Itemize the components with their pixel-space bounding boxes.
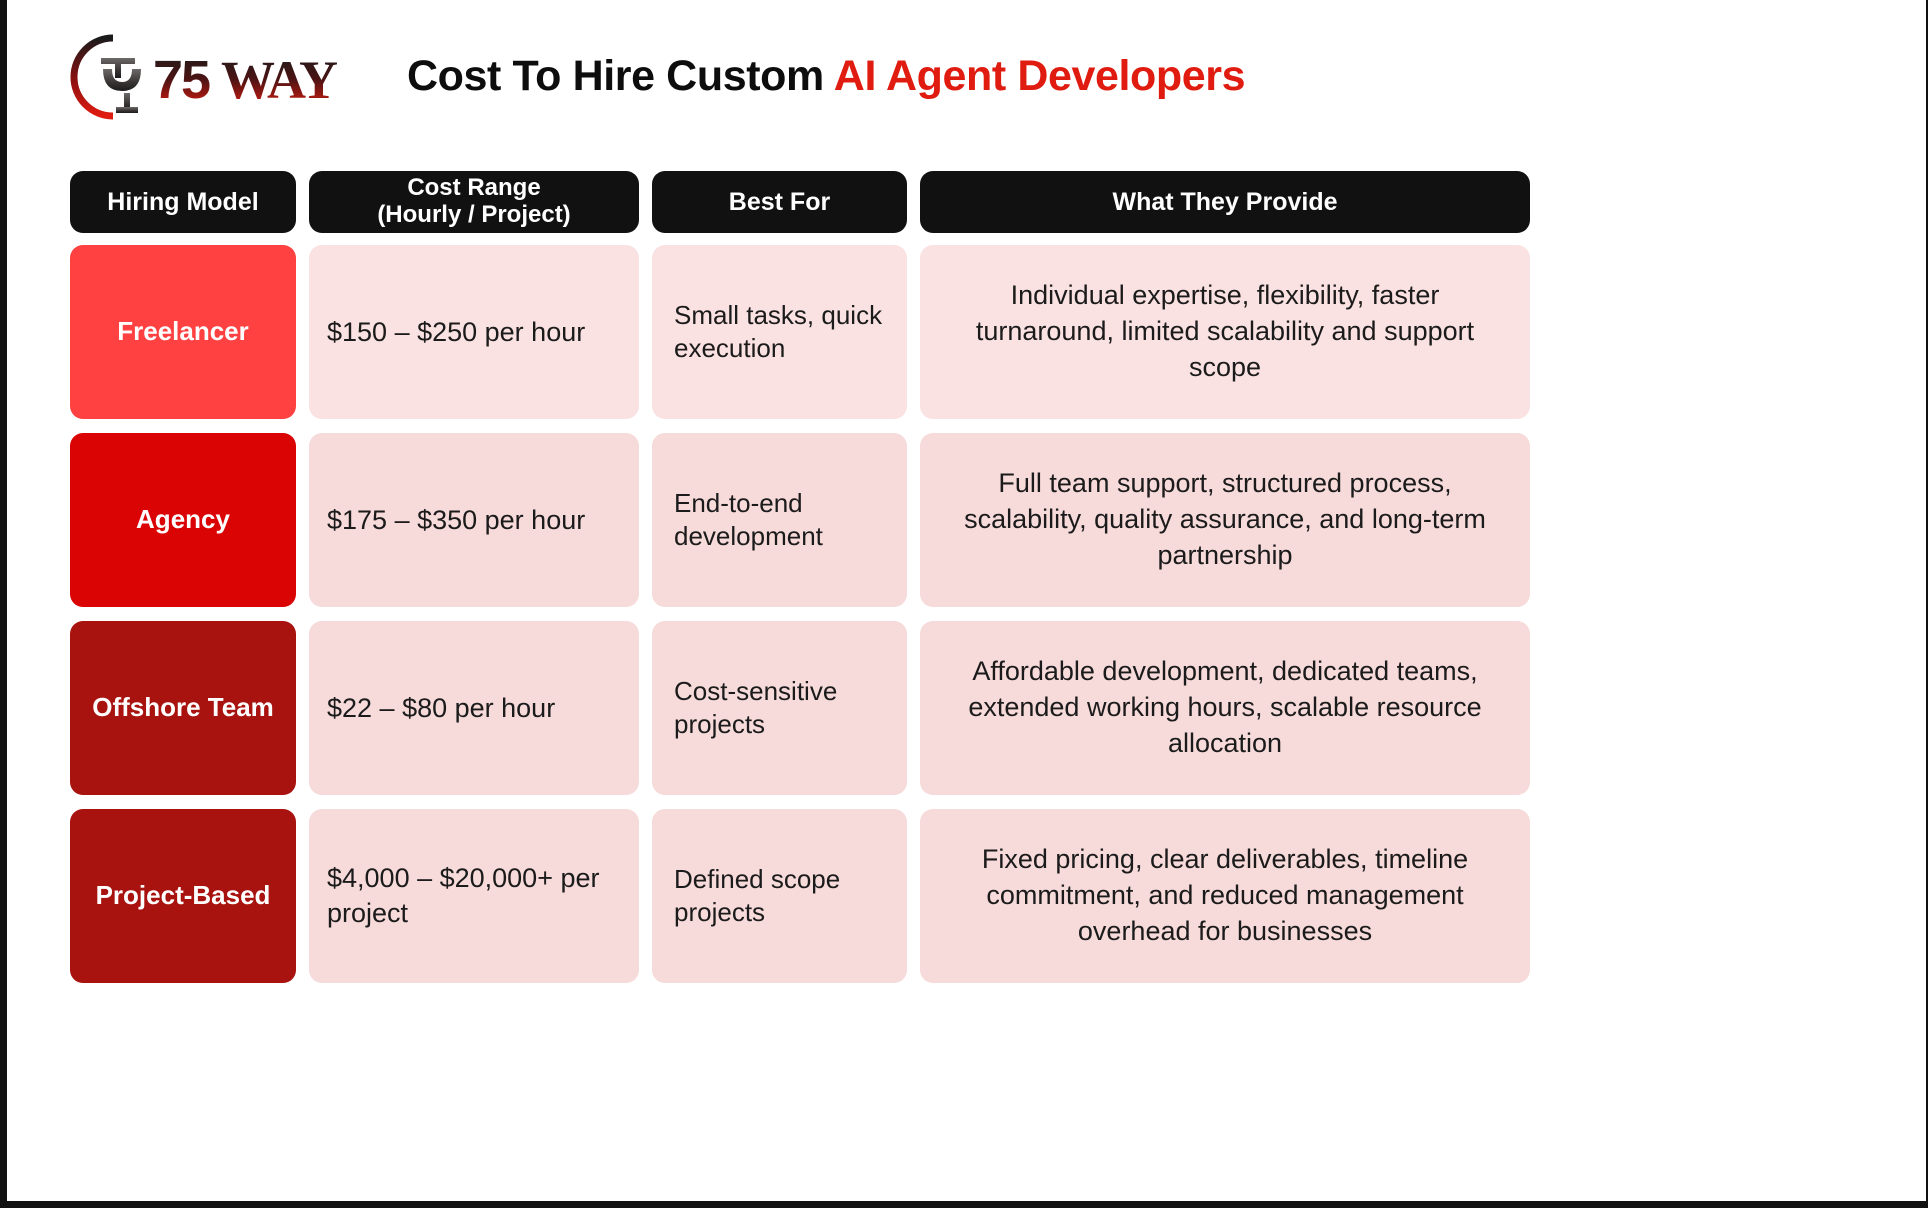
row-cost-project-based: $4,000 – $20,000+ per project [309,809,639,983]
column-header-cost-range-line1: Cost Range [377,175,570,202]
row-best-for-agency: End-to-end development [652,433,907,607]
row-provide-freelancer: Individual expertise, flexibility, faste… [920,245,1530,419]
header-bar: 75 WAY Cost To Hire Custom AI Agent Deve… [7,0,1926,160]
row-provide-project-based: Fixed pricing, clear deliverables, timel… [920,809,1530,983]
page-title: Cost To Hire Custom AI Agent Developers [407,52,1245,101]
table-row: Agency $175 – $350 per hour End-to-end d… [70,433,1530,607]
column-header-cost-range-line2: (Hourly / Project) [377,202,570,229]
row-model-agency: Agency [70,433,296,607]
row-best-for-project-based: Defined scope projects [652,809,907,983]
svg-text:75: 75 [153,50,210,110]
row-cost-offshore-team: $22 – $80 per hour [309,621,639,795]
table-row: Project-Based $4,000 – $20,000+ per proj… [70,809,1530,983]
75way-logo-icon: 75 WAY [69,28,369,128]
page-title-plain: Cost To Hire Custom [407,52,834,100]
row-model-offshore-team: Offshore Team [70,621,296,795]
table-row: Freelancer $150 – $250 per hour Small ta… [70,245,1530,419]
column-header-what-they-provide: What They Provide [920,171,1530,233]
row-cost-freelancer: $150 – $250 per hour [309,245,639,419]
infographic-canvas: 75 WAY Cost To Hire Custom AI Agent Deve… [0,0,1928,1208]
column-header-cost-range: Cost Range (Hourly / Project) [309,171,639,233]
table-row: Offshore Team $22 – $80 per hour Cost-se… [70,621,1530,795]
row-best-for-offshore-team: Cost-sensitive projects [652,621,907,795]
cost-comparison-table: Hiring Model Cost Range (Hourly / Projec… [70,171,1530,997]
row-provide-offshore-team: Affordable development, dedicated teams,… [920,621,1530,795]
svg-text:WAY: WAY [221,50,337,110]
row-provide-agency: Full team support, structured process, s… [920,433,1530,607]
column-header-hiring-model: Hiring Model [70,171,296,233]
row-model-freelancer: Freelancer [70,245,296,419]
row-cost-agency: $175 – $350 per hour [309,433,639,607]
column-header-best-for: Best For [652,171,907,233]
page-title-accent: AI Agent Developers [834,52,1245,100]
table-header-row: Hiring Model Cost Range (Hourly / Projec… [70,171,1530,233]
row-model-project-based: Project-Based [70,809,296,983]
row-best-for-freelancer: Small tasks, quick execution [652,245,907,419]
